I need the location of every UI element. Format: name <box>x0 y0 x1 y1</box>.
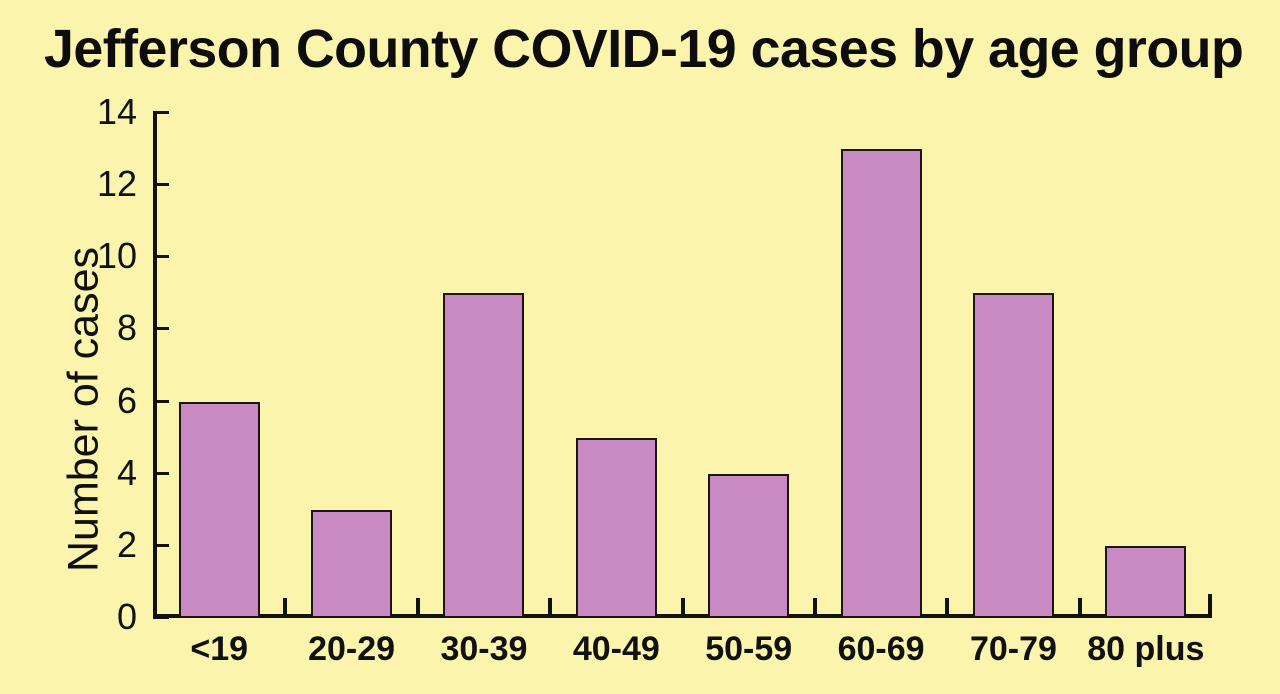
y-axis-tick <box>153 472 169 475</box>
bar <box>973 293 1054 618</box>
chart-figure: Jefferson County COVID-19 cases by age g… <box>0 0 1280 694</box>
bar <box>1105 546 1186 618</box>
y-axis-tick <box>153 111 169 114</box>
bar <box>708 474 789 618</box>
y-axis-tick <box>153 327 169 330</box>
x-axis-tick-label: 60-69 <box>815 632 947 666</box>
x-axis-tick-label: 50-59 <box>683 632 815 666</box>
y-axis-tick-label: 8 <box>75 310 137 346</box>
x-axis-tick <box>681 598 685 618</box>
x-axis-tick <box>283 598 287 618</box>
y-axis-tick-label: 10 <box>75 238 137 274</box>
y-axis-tick-label: 4 <box>75 455 137 491</box>
plot-area <box>153 113 1212 618</box>
bar <box>311 510 392 618</box>
x-axis-tick-label: 30-39 <box>418 632 550 666</box>
x-axis-tick <box>1078 598 1082 618</box>
x-axis-tick-label: <19 <box>153 632 285 666</box>
x-axis-tick-label: 70-79 <box>947 632 1079 666</box>
y-axis-tick-label: 0 <box>75 599 137 635</box>
y-axis-tick <box>153 616 169 619</box>
y-axis-line <box>153 113 157 618</box>
x-axis-tick-label: 20-29 <box>285 632 417 666</box>
bar <box>179 402 260 618</box>
y-axis-tick-label: 2 <box>75 527 137 563</box>
x-axis-tick <box>813 598 817 618</box>
y-axis-tick-label: 12 <box>75 166 137 202</box>
y-axis-tick-label: 14 <box>75 94 137 130</box>
y-axis-tick <box>153 255 169 258</box>
x-axis-tick-label: 80 plus <box>1080 632 1212 666</box>
y-axis-tick <box>153 400 169 403</box>
y-axis-tick <box>153 544 169 547</box>
bar <box>443 293 524 618</box>
x-axis-tick <box>416 598 420 618</box>
x-axis-tick <box>945 598 949 618</box>
x-axis-tick-label: 40-49 <box>550 632 682 666</box>
x-axis-end-tick <box>1208 594 1212 618</box>
chart-title: Jefferson County COVID-19 cases by age g… <box>44 18 1238 80</box>
y-axis-tick-label: 6 <box>75 383 137 419</box>
bar <box>841 149 922 618</box>
x-axis-tick <box>548 598 552 618</box>
y-axis-tick <box>153 183 169 186</box>
bar <box>576 438 657 618</box>
